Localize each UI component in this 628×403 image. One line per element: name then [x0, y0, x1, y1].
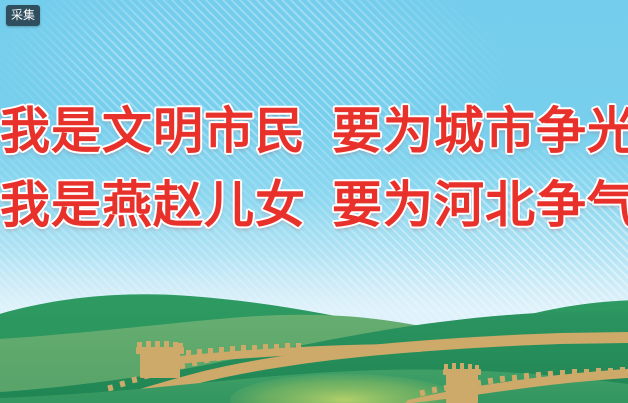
great-wall-tower-right — [443, 363, 481, 403]
poster-image: 我是文明市民要为城市争光 我是燕赵儿女要为河北争气 采集 — [0, 0, 628, 403]
slogan-line-1-left: 我是文明市民 — [0, 102, 306, 160]
capture-button[interactable]: 采集 — [6, 5, 40, 26]
slogan-line-1: 我是文明市民要为城市争光 — [0, 94, 628, 168]
slogan-block: 我是文明市民要为城市争光 我是燕赵儿女要为河北争气 — [0, 94, 628, 242]
slogan-line-2-left: 我是燕赵儿女 — [0, 176, 306, 234]
slogan-line-2-right: 要为河北争气 — [332, 176, 628, 234]
slogan-line-1-right: 要为城市争光 — [332, 102, 628, 160]
slogan-line-2: 我是燕赵儿女要为河北争气 — [0, 168, 628, 242]
